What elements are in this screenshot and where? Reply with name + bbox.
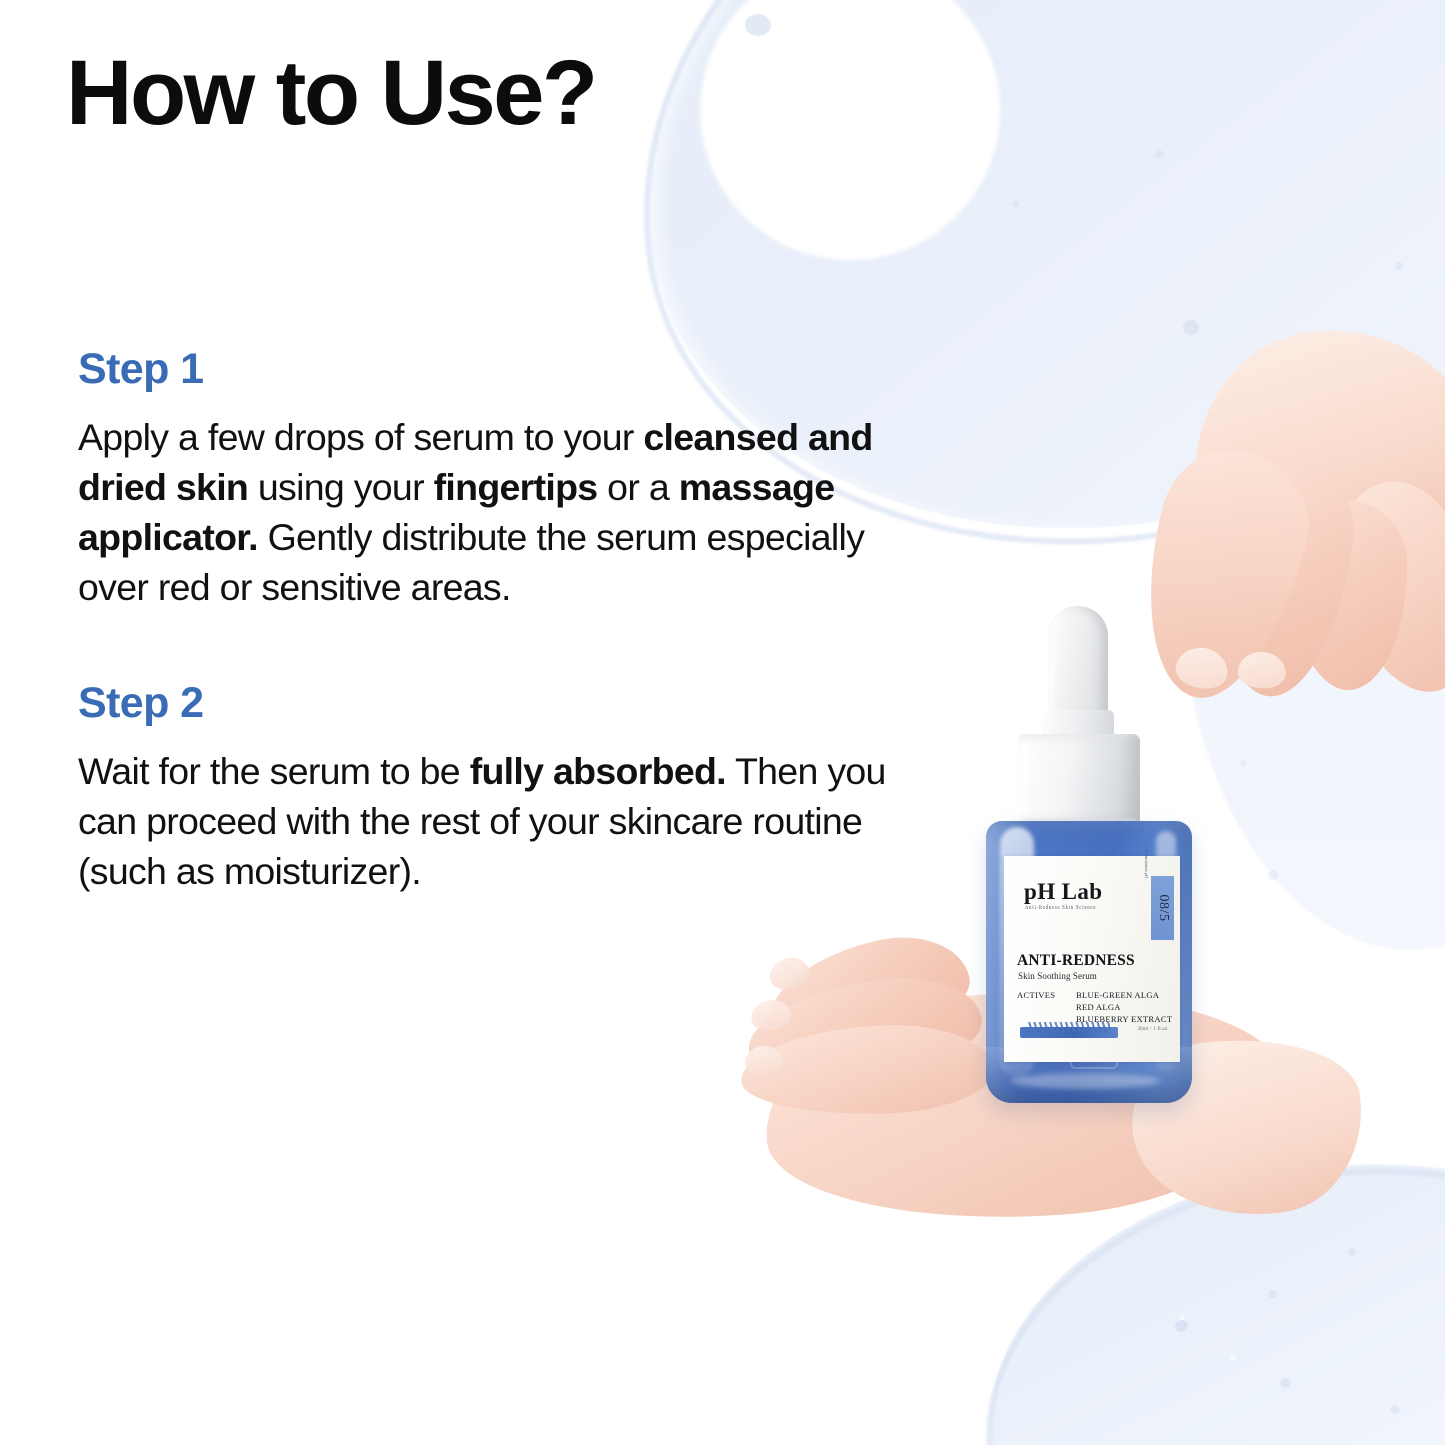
bubble-icon: [1395, 262, 1403, 270]
brand-tagline: Anti-Redness Skin Science: [1025, 904, 1096, 910]
bubble-icon: [1175, 1320, 1188, 1332]
bubble-icon: [745, 14, 771, 36]
serum-bottle: pH Lab Anti-Redness Skin Science Formula…: [982, 606, 1210, 1106]
product-name: ANTI-REDNESS: [1017, 952, 1135, 970]
bubble-icon: [1348, 1248, 1356, 1256]
step-1-body: Apply a few drops of serum to your clean…: [78, 413, 923, 613]
bubble-highlight: [1180, 1316, 1185, 1320]
bubble-icon: [1155, 150, 1164, 159]
brand-name: pH Lab: [1024, 880, 1102, 903]
ph-code-value: 08/5: [1155, 895, 1171, 922]
ph-code-tab: 08/5: [1151, 876, 1174, 940]
step-1-block: Step 1 Apply a few drops of serum to you…: [78, 348, 923, 613]
bubble-icon: [1012, 200, 1019, 207]
bubble-icon: [1280, 1378, 1291, 1388]
gel-blob-top-notch: [700, 0, 1000, 260]
dropper-bulb: [1048, 606, 1108, 724]
bubble-icon: [1268, 870, 1278, 880]
volume-text: 30ml / 1 fl.oz.: [1137, 1027, 1169, 1032]
page-title: How to Use?: [66, 47, 596, 139]
infographic-canvas: How to Use? Step 1 Apply a few drops of …: [0, 0, 1445, 1445]
bubble-icon: [1240, 760, 1247, 767]
actives-label: ACTIVES: [1017, 990, 1055, 1000]
product-label: pH Lab Anti-Redness Skin Science Formula…: [1004, 856, 1180, 1062]
step-2-body: Wait for the serum to be fully absorbed.…: [78, 747, 923, 897]
step-2-block: Step 2 Wait for the serum to be fully ab…: [78, 682, 923, 897]
bubble-icon: [1390, 1405, 1400, 1414]
step-1-heading: Step 1: [78, 348, 923, 391]
dropper-collar: [1018, 734, 1140, 826]
bubble-icon: [1268, 1290, 1277, 1299]
glass-base-highlight: [1010, 1073, 1160, 1089]
step-2-heading: Step 2: [78, 682, 923, 725]
product-subtitle: Skin Soothing Serum: [1018, 971, 1097, 981]
bubble-highlight: [1230, 1355, 1236, 1360]
script-tagline-mark: [1020, 1027, 1118, 1038]
actives-list: BLUE-GREEN ALGARED ALGABLUEBERRY EXTRACT: [1076, 989, 1172, 1026]
ph-code-caption: Formulation pH: [1144, 850, 1149, 878]
